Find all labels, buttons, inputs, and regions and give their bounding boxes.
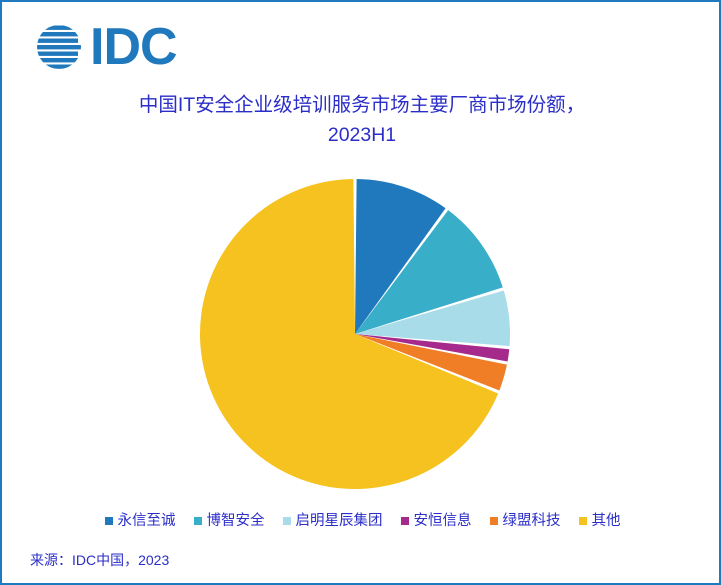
legend-item[interactable]: 绿盟科技	[490, 514, 561, 529]
legend-item-label: 安恒信息	[414, 514, 472, 529]
legend-swatch-icon	[490, 517, 498, 525]
idc-globe-icon	[32, 20, 86, 74]
chart-legend: 永信至诚博智安全启明星辰集团安恒信息绿盟科技其他	[2, 514, 721, 529]
legend-item[interactable]: 永信至诚	[105, 514, 176, 529]
source-note: 来源：IDC中国，2023	[30, 550, 169, 570]
pie-slice-group	[200, 179, 510, 489]
legend-item-label: 博智安全	[207, 514, 265, 529]
legend-item-label: 其他	[592, 514, 621, 529]
legend-item[interactable]: 其他	[579, 514, 621, 529]
legend-swatch-icon	[401, 517, 409, 525]
legend-item[interactable]: 博智安全	[194, 514, 265, 529]
legend-item[interactable]: 启明星辰集团	[283, 514, 383, 529]
legend-item-label: 启明星辰集团	[296, 514, 383, 529]
pie-chart-svg	[183, 162, 543, 502]
page-title-line-1: 中国IT安全企业级培训服务市场主要厂商市场份额，	[62, 90, 662, 120]
legend-item-label: 永信至诚	[118, 514, 176, 529]
page-title-line-2: 2023H1	[62, 120, 662, 150]
legend-swatch-icon	[194, 517, 202, 525]
legend-swatch-icon	[283, 517, 291, 525]
legend-item-label: 绿盟科技	[503, 514, 561, 529]
idc-logo: IDC	[32, 20, 177, 74]
page-title: 中国IT安全企业级培训服务市场主要厂商市场份额， 2023H1	[62, 90, 662, 150]
pie-chart	[2, 162, 721, 507]
legend-swatch-icon	[579, 517, 587, 525]
legend-item[interactable]: 安恒信息	[401, 514, 472, 529]
legend-swatch-icon	[105, 517, 113, 525]
idc-wordmark: IDC	[90, 21, 177, 73]
chart-page: IDC 中国IT安全企业级培训服务市场主要厂商市场份额， 2023H1 永信至诚…	[0, 0, 721, 585]
